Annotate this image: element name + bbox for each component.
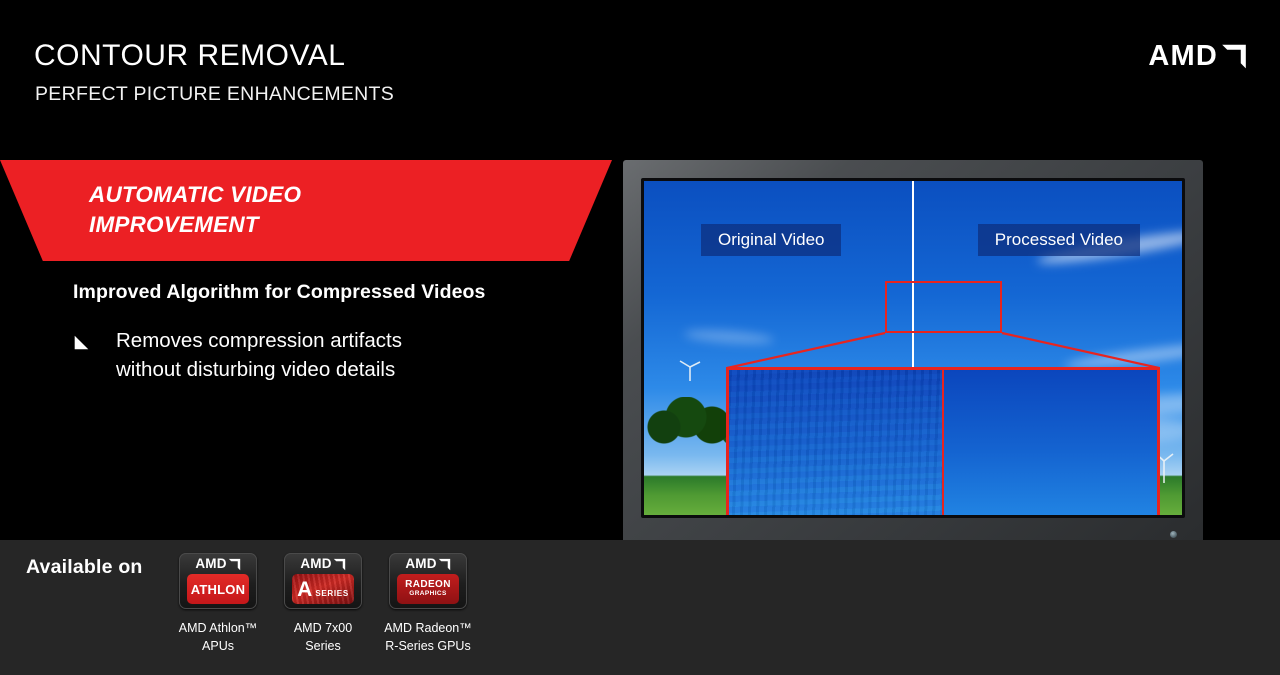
slide-root: CONTOUR REMOVAL PERFECT PICTURE ENHANCEM… [0,0,1280,675]
amd-arrow-icon [438,558,451,571]
badge-chip: AMD ATHLON [179,553,257,609]
badge-caption: AMD Radeon™ R-Series GPUs [373,619,483,655]
page-title: CONTOUR REMOVAL [34,40,345,72]
product-badge-radeon[interactable]: AMD RADEON GRAPHICS AMD Radeon™ R-Series… [386,553,470,655]
chip-amd-text: AMD [300,557,331,571]
chip-plate-subtext: GRAPHICS [409,591,447,598]
chip-plate-text: A [297,579,312,600]
monitor: Original Video Processed Video [623,160,1203,550]
contour-banding-artifacts-secondary [729,370,943,515]
amd-logo-text: AMD [1148,42,1218,71]
chip-plate: RADEON GRAPHICS [397,574,459,604]
monitor-screen: Original Video Processed Video [644,181,1182,515]
original-video-label: Original Video [701,224,841,256]
bullet-item: Removes compression artifacts without di… [73,326,533,384]
processed-video-label: Processed Video [978,224,1140,256]
callout-source-rect [885,281,1002,333]
chip-plate-text-group: A SERIES [297,579,349,600]
chip-amd-logo: AMD [300,557,345,571]
power-led-icon[interactable] [1170,531,1177,538]
badge-caption: AMD 7x00 Series [268,619,378,655]
product-badge-list: AMD ATHLON AMD Athlon™ APUs AMD [176,553,470,655]
banner-line-2: IMPROVEMENT [89,210,419,240]
chip-amd-logo: AMD [195,557,240,571]
badge-chip: AMD A SERIES [284,553,362,609]
page-subtitle: PERFECT PICTURE ENHANCEMENTS [35,83,394,106]
chip-plate: A SERIES [292,574,354,604]
badge-chip: AMD RADEON GRAPHICS [389,553,467,609]
magnified-comparison-rect [726,367,1160,515]
chip-amd-text: AMD [405,557,436,571]
chip-plate: ATHLON [187,574,249,604]
triangle-bullet-icon [73,334,90,351]
banner-text: AUTOMATIC VIDEO IMPROVEMENT [89,180,419,239]
amd-arrow-icon [228,558,241,571]
body-heading: Improved Algorithm for Compressed Videos [73,281,486,304]
banner-line-1: AUTOMATIC VIDEO [89,180,419,210]
magnified-split-divider [942,370,944,515]
chip-amd-text: AMD [195,557,226,571]
chip-plate-text-group: RADEON GRAPHICS [405,580,451,597]
bullet-line-1: Removes compression artifacts [116,326,402,355]
chip-plate-subtext: SERIES [315,589,349,598]
amd-arrow-icon [333,558,346,571]
chip-amd-logo: AMD [405,557,450,571]
product-badge-a-series[interactable]: AMD A SERIES AMD 7x00 Series [281,553,365,655]
badge-caption: AMD Athlon™ APUs [163,619,273,655]
chip-plate-text: ATHLON [191,582,245,597]
product-badge-athlon[interactable]: AMD ATHLON AMD Athlon™ APUs [176,553,260,655]
amd-logo: AMD [1148,41,1248,71]
amd-arrow-icon [1220,43,1248,70]
available-on-label: Available on [26,556,143,579]
bullet-text: Removes compression artifacts without di… [116,326,402,384]
bullet-line-2: without disturbing video details [116,355,402,384]
